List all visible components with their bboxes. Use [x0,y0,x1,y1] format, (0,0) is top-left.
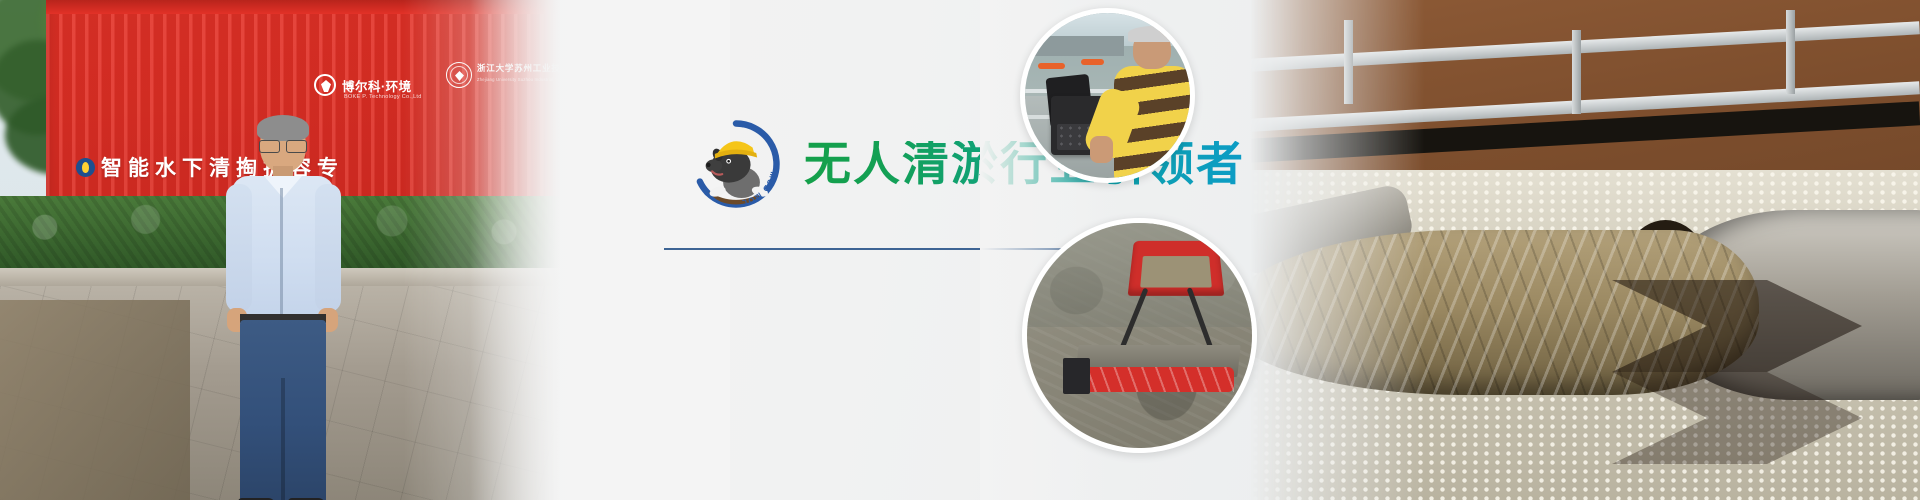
container-brand-cn: 博尔科·环境 [342,76,412,95]
figure-arm-left [226,184,252,312]
floating-buoy [1081,59,1104,65]
container-institute-cn: 浙江大学苏州工业技术研究院 [477,62,560,74]
rail-post [1572,30,1581,114]
rail-post [1344,20,1353,104]
mud-mole-logo: MUD MOLE [690,118,782,210]
engineer-figure [226,118,341,500]
container-brand-en: BOKE P. Technology Co.,Ltd [344,94,422,100]
figure-hair [257,115,309,141]
plant-building [1028,36,1124,56]
dirt-patch [0,300,190,500]
container-institute-logo: 浙江大学苏州工业技术研究院 Zhejiang University Suzhou… [446,62,560,88]
operator-hand [1090,136,1112,163]
hero-banner: 博尔科·环境 BOKE P. Technology Co.,Ltd 浙江大学苏州… [0,0,1920,500]
figure-arm-right [315,184,341,312]
mud-mole-logo-icon: MUD MOLE [690,118,782,210]
container-brand-logo: 博尔科·环境 BOKE P. Technology Co.,Ltd [314,74,412,96]
glasses-icon [259,140,307,151]
figure-trousers [240,320,326,500]
auger-screw [1081,367,1234,392]
slogan-mark-icon [76,158,95,177]
operator-cap [1128,26,1179,41]
rail-post [1786,10,1795,94]
container-institute-en: Zhejiang University Suzhou Industrial Te… [477,77,560,82]
gearbox-housing [1063,358,1090,394]
figure-placket [280,188,283,314]
circle-photo-operator [1020,8,1195,183]
brand-emblem-icon [314,74,336,96]
left-photo-container-engineer: 博尔科·环境 BOKE P. Technology Co.,Ltd 浙江大学苏州… [0,0,560,500]
operator-figure [1111,30,1195,182]
container-roof-edge [46,0,560,14]
circle-photo-dredging-robot [1022,218,1257,453]
floating-buoy [1038,63,1064,69]
robot-hull [1127,240,1224,294]
institute-seal-icon [446,62,472,88]
